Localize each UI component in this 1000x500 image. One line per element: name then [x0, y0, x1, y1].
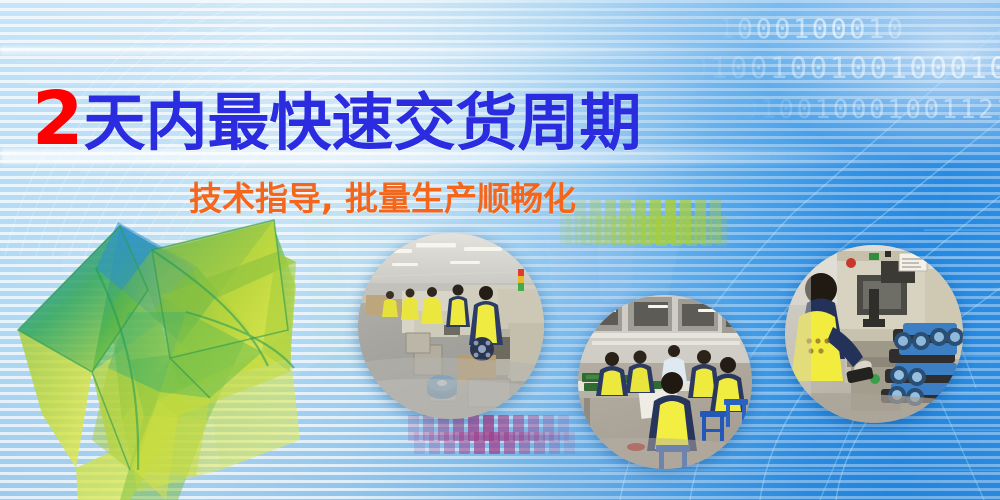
headline: 2 天内最快速交货周期 — [32, 82, 642, 156]
purple-bar-strip-row2 — [414, 432, 575, 454]
green-bar-strip-row2 — [566, 216, 727, 246]
photo-assembly-workbench-image — [578, 295, 752, 469]
photo-assembly-workbench — [578, 295, 752, 469]
photo-smt-production-line-image — [358, 233, 544, 419]
photo-smt-production-line — [358, 233, 544, 419]
promo-banner: 1000100010 0100100100100010001100010 010… — [0, 0, 1000, 500]
subtitle: 技术指导, 批量生产顺畅化 — [189, 172, 576, 220]
photo-machine-operator-image — [785, 245, 963, 423]
headline-number: 2 — [32, 82, 83, 156]
headline-text: 天内最快速交货周期 — [84, 92, 642, 154]
photo-machine-operator — [785, 245, 963, 423]
